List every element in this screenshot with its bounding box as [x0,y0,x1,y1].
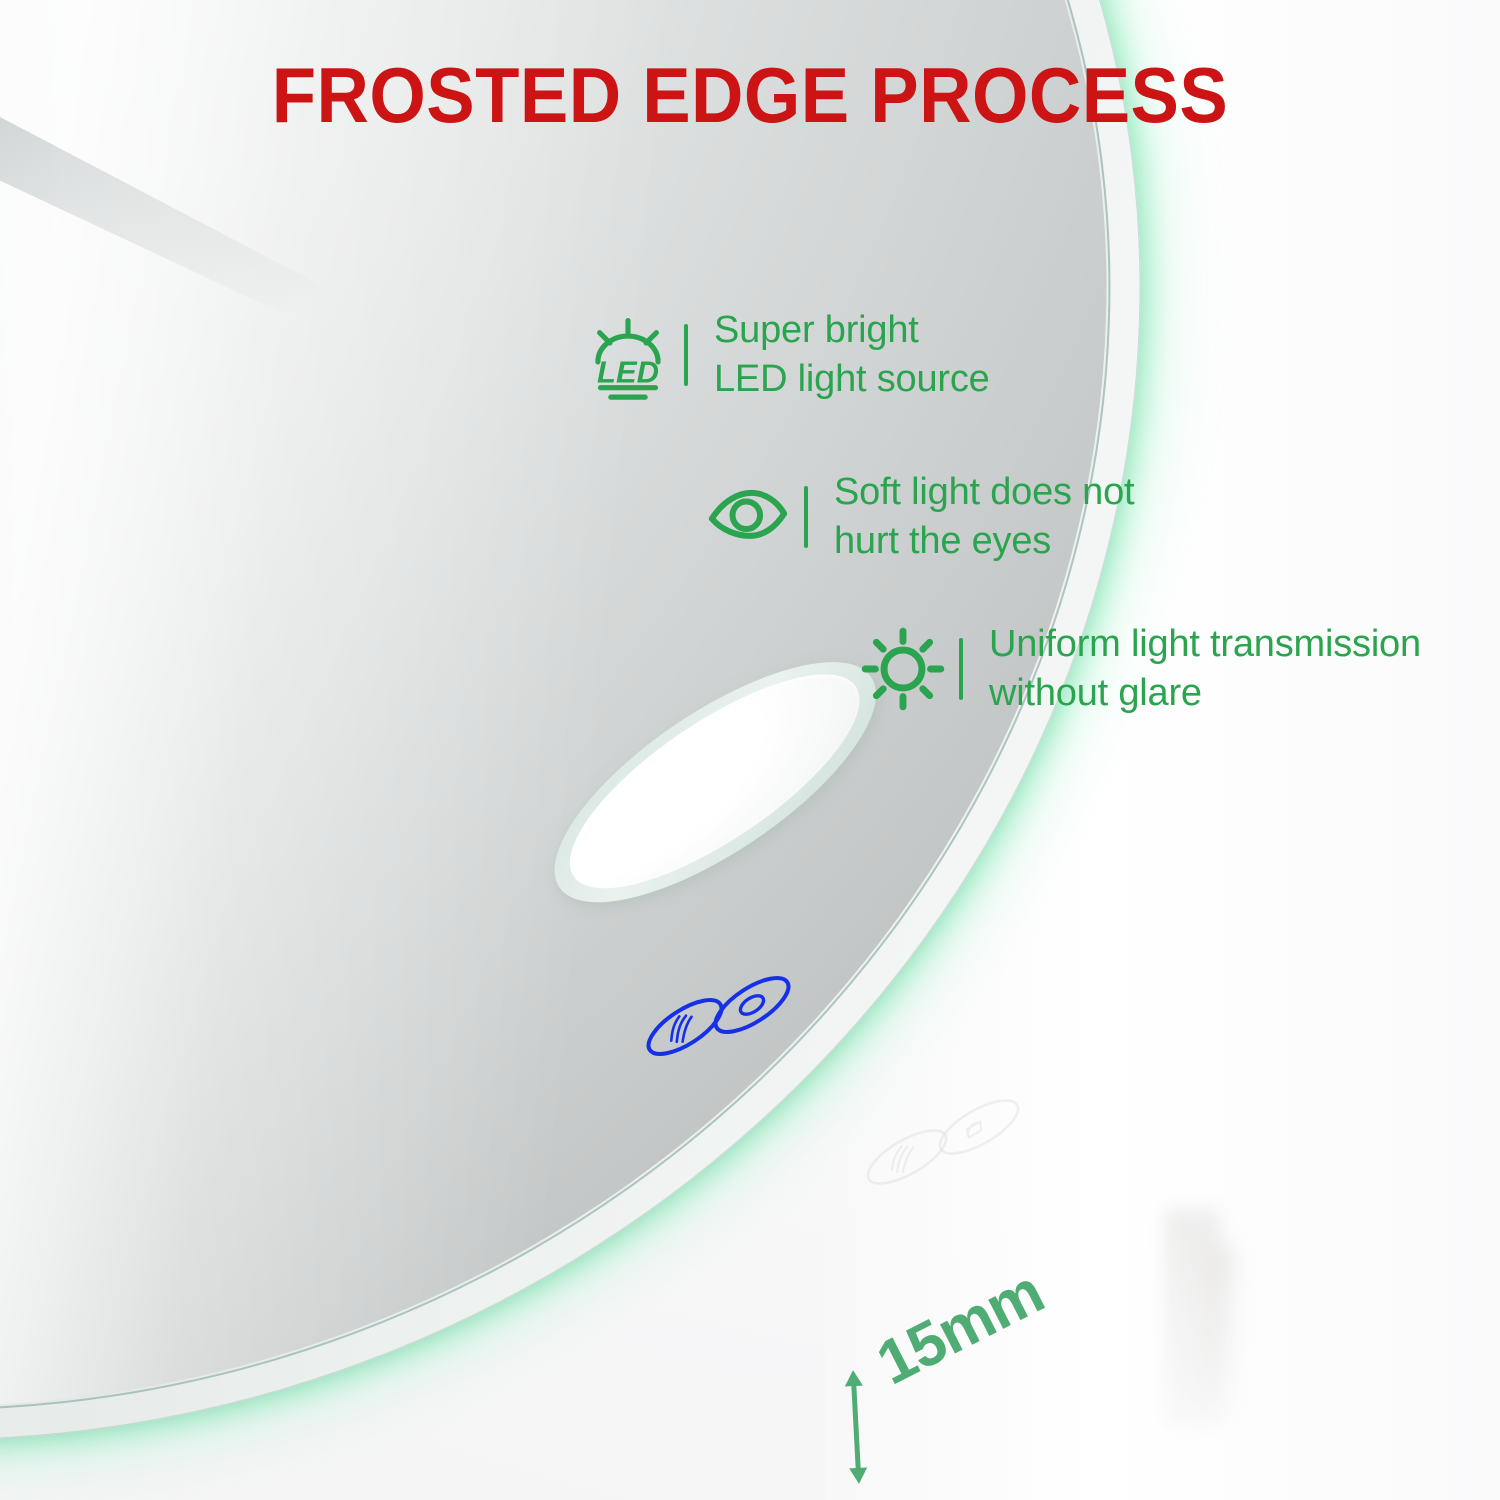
touch-control-panel[interactable] [630,965,810,1070]
feature-label: Super bright LED light source [714,306,990,405]
led-icon: LED [580,307,676,403]
oval-bright-core [541,637,889,925]
feature-label: Soft light does not hurt the eyes [834,468,1134,567]
feature-item-led: LED Super bright LED light source [580,306,990,405]
feature-divider [959,638,963,700]
feature-divider [804,486,808,548]
page-title: FROSTED EDGE PROCESS [53,50,1448,141]
touch-control-reflection [845,1085,1045,1235]
feature-label: Uniform light transmission without glare [989,620,1421,719]
svg-text:LED: LED [597,355,659,390]
feature-item-uniform-light: Uniform light transmission without glare [855,620,1421,719]
product-feature-image: FROSTED EDGE PROCESS LED Super bright LE… [0,0,1500,1500]
feature-item-soft-light: Soft light does not hurt the eyes [700,468,1134,567]
eye-icon [700,469,796,565]
blurred-object-secondary [1205,1245,1235,1420]
sun-icon [855,621,951,717]
feature-divider [684,324,688,386]
